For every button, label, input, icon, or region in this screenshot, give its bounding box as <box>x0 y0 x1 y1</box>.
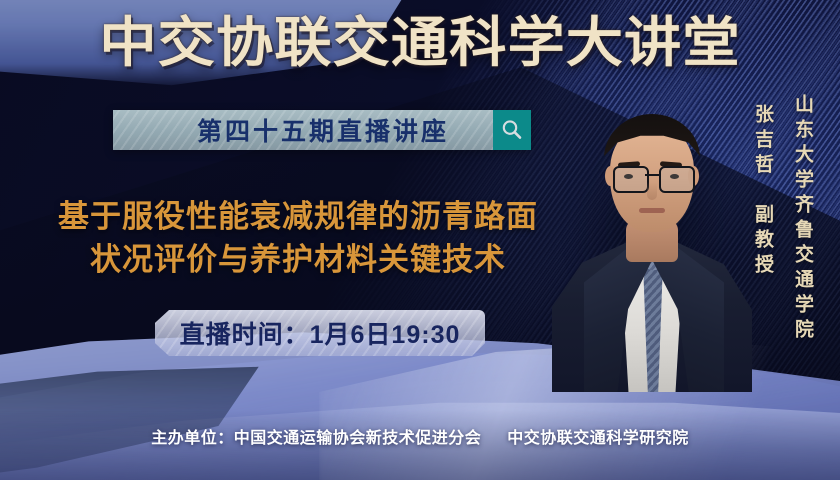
episode-label: 第四十五期直播讲座 <box>157 112 449 148</box>
portrait-glasses-right-lens <box>659 166 695 193</box>
portrait-nose <box>647 182 657 200</box>
footer-organizer-1: 中国交通运输协会新技术促进分会 <box>234 430 482 447</box>
speaker-portrait <box>548 92 756 392</box>
portrait-glasses-left-lens <box>613 166 649 193</box>
portrait-mouth <box>639 208 665 213</box>
live-stream-poster: 中交协联交通科学大讲堂 第四十五期直播讲座 基于服役性能衰减规律的沥青路面 状况… <box>0 0 840 480</box>
footer-organizers: 主办单位：中国交通运输协会新技术促进分会中交协联交通科学研究院 <box>0 424 840 448</box>
search-icon-block[interactable] <box>493 110 531 150</box>
episode-banner: 第四十五期直播讲座 <box>113 110 531 150</box>
footer-organizer-label: 主办单位： <box>151 430 234 447</box>
lecture-headline: 基于服役性能衰减规律的沥青路面 状况评价与养护材料关键技术 <box>18 196 578 282</box>
footer-organizer-2: 中交协联交通科学研究院 <box>507 430 689 447</box>
portrait-glasses-bridge <box>645 174 659 176</box>
broadcast-time-label: 直播时间：1月6日19:30 <box>180 315 461 351</box>
search-icon <box>500 118 524 142</box>
headline-line-2: 状况评价与养护材料关键技术 <box>18 239 578 282</box>
page-title: 中交协联交通科学大讲堂 <box>0 16 840 70</box>
broadcast-time-badge: 直播时间：1月6日19:30 <box>155 310 485 356</box>
speaker-name: 张吉哲 副教授 <box>749 104 776 279</box>
episode-banner-label-area: 第四十五期直播讲座 <box>113 110 493 150</box>
headline-line-1: 基于服役性能衰减规律的沥青路面 <box>58 199 538 234</box>
speaker-affiliation: 山东大学齐鲁交通学院 <box>789 94 816 344</box>
